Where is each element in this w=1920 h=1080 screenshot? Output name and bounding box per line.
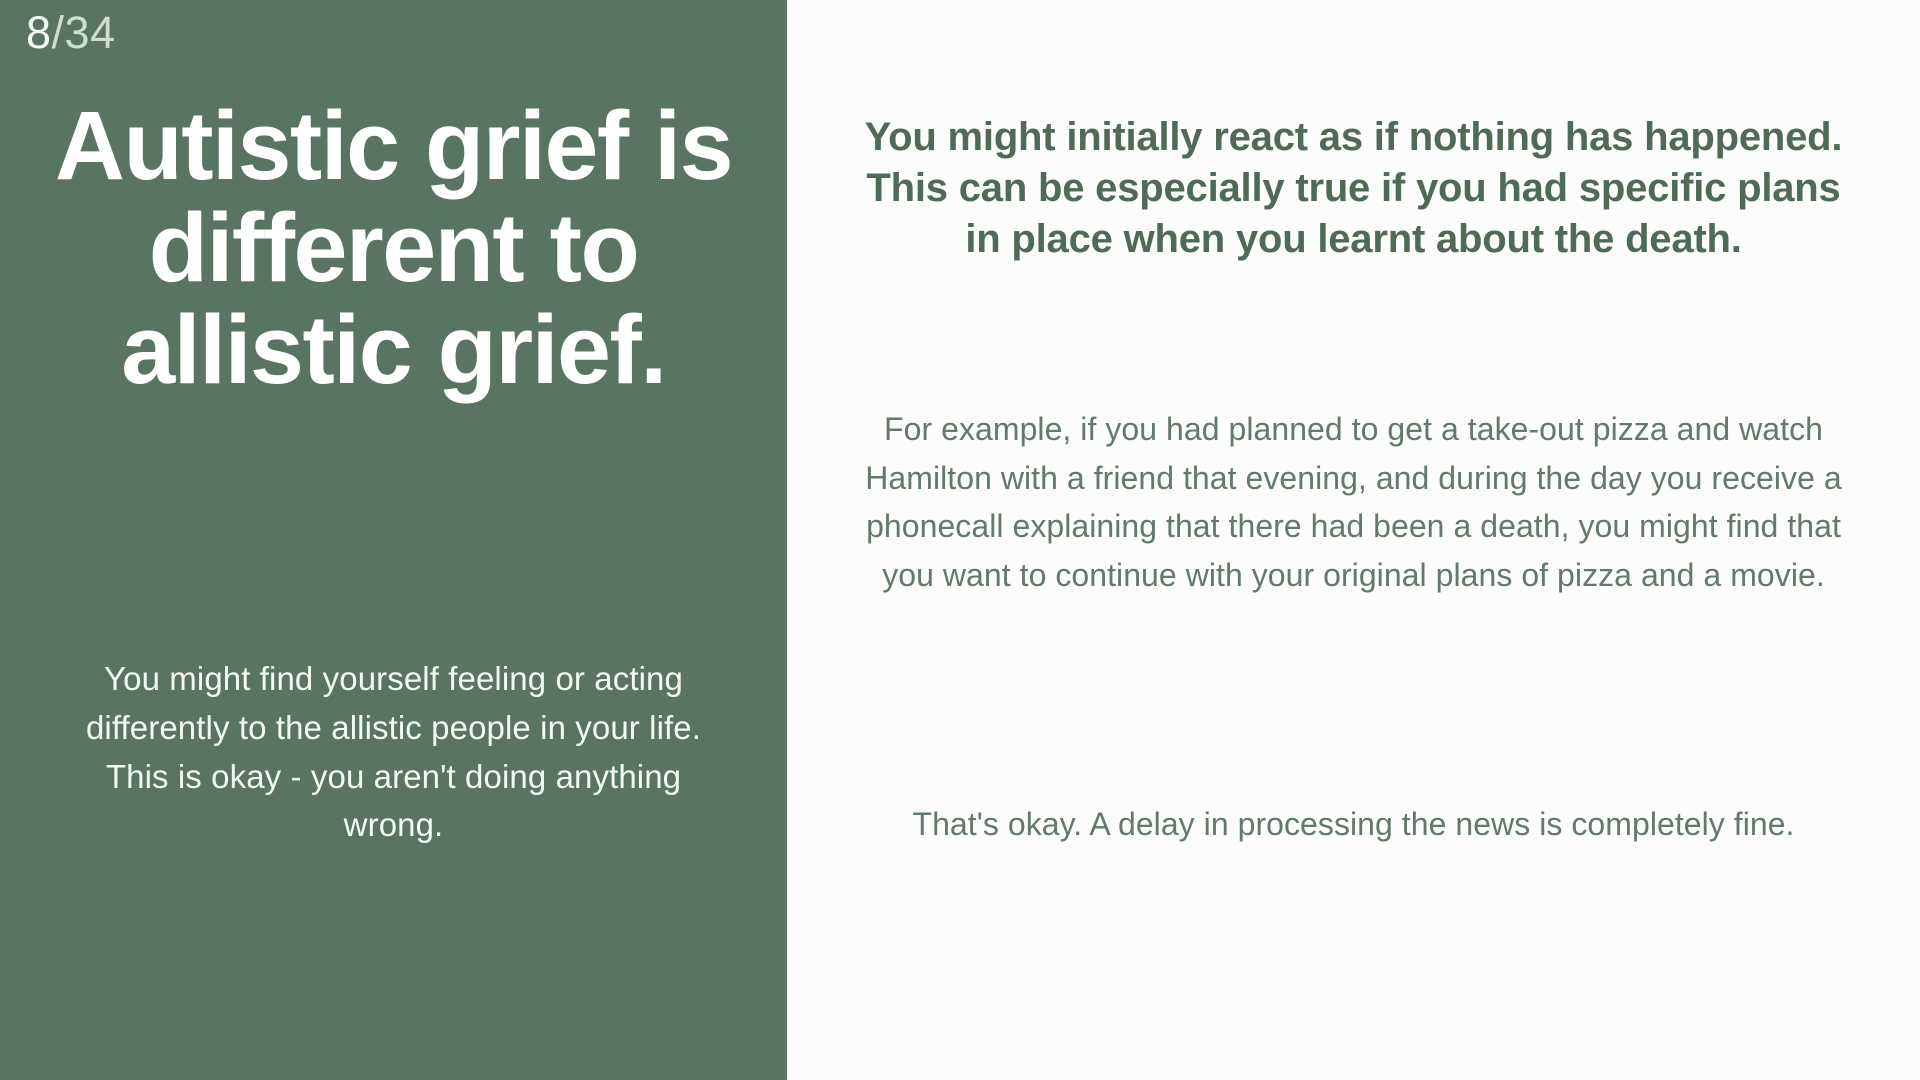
right-paragraph-reassurance: That's okay. A delay in processing the n… bbox=[862, 800, 1845, 849]
page-indicator-total: 34 bbox=[65, 7, 116, 58]
right-content-panel: You might initially react as if nothing … bbox=[787, 0, 1920, 1080]
page-indicator-separator: / bbox=[52, 7, 65, 58]
page-indicator: 8/34 bbox=[26, 10, 116, 55]
slide-root: 8/34 Autistic grief is different to alli… bbox=[0, 0, 1920, 1080]
slide-title: Autistic grief is different to allistic … bbox=[30, 95, 757, 401]
left-body-text: You might find yourself feeling or actin… bbox=[52, 655, 735, 850]
right-paragraph-example: For example, if you had planned to get a… bbox=[862, 405, 1845, 600]
right-heading: You might initially react as if nothing … bbox=[849, 112, 1858, 266]
left-green-panel: 8/34 Autistic grief is different to alli… bbox=[0, 0, 787, 1080]
page-indicator-current: 8 bbox=[26, 7, 52, 58]
